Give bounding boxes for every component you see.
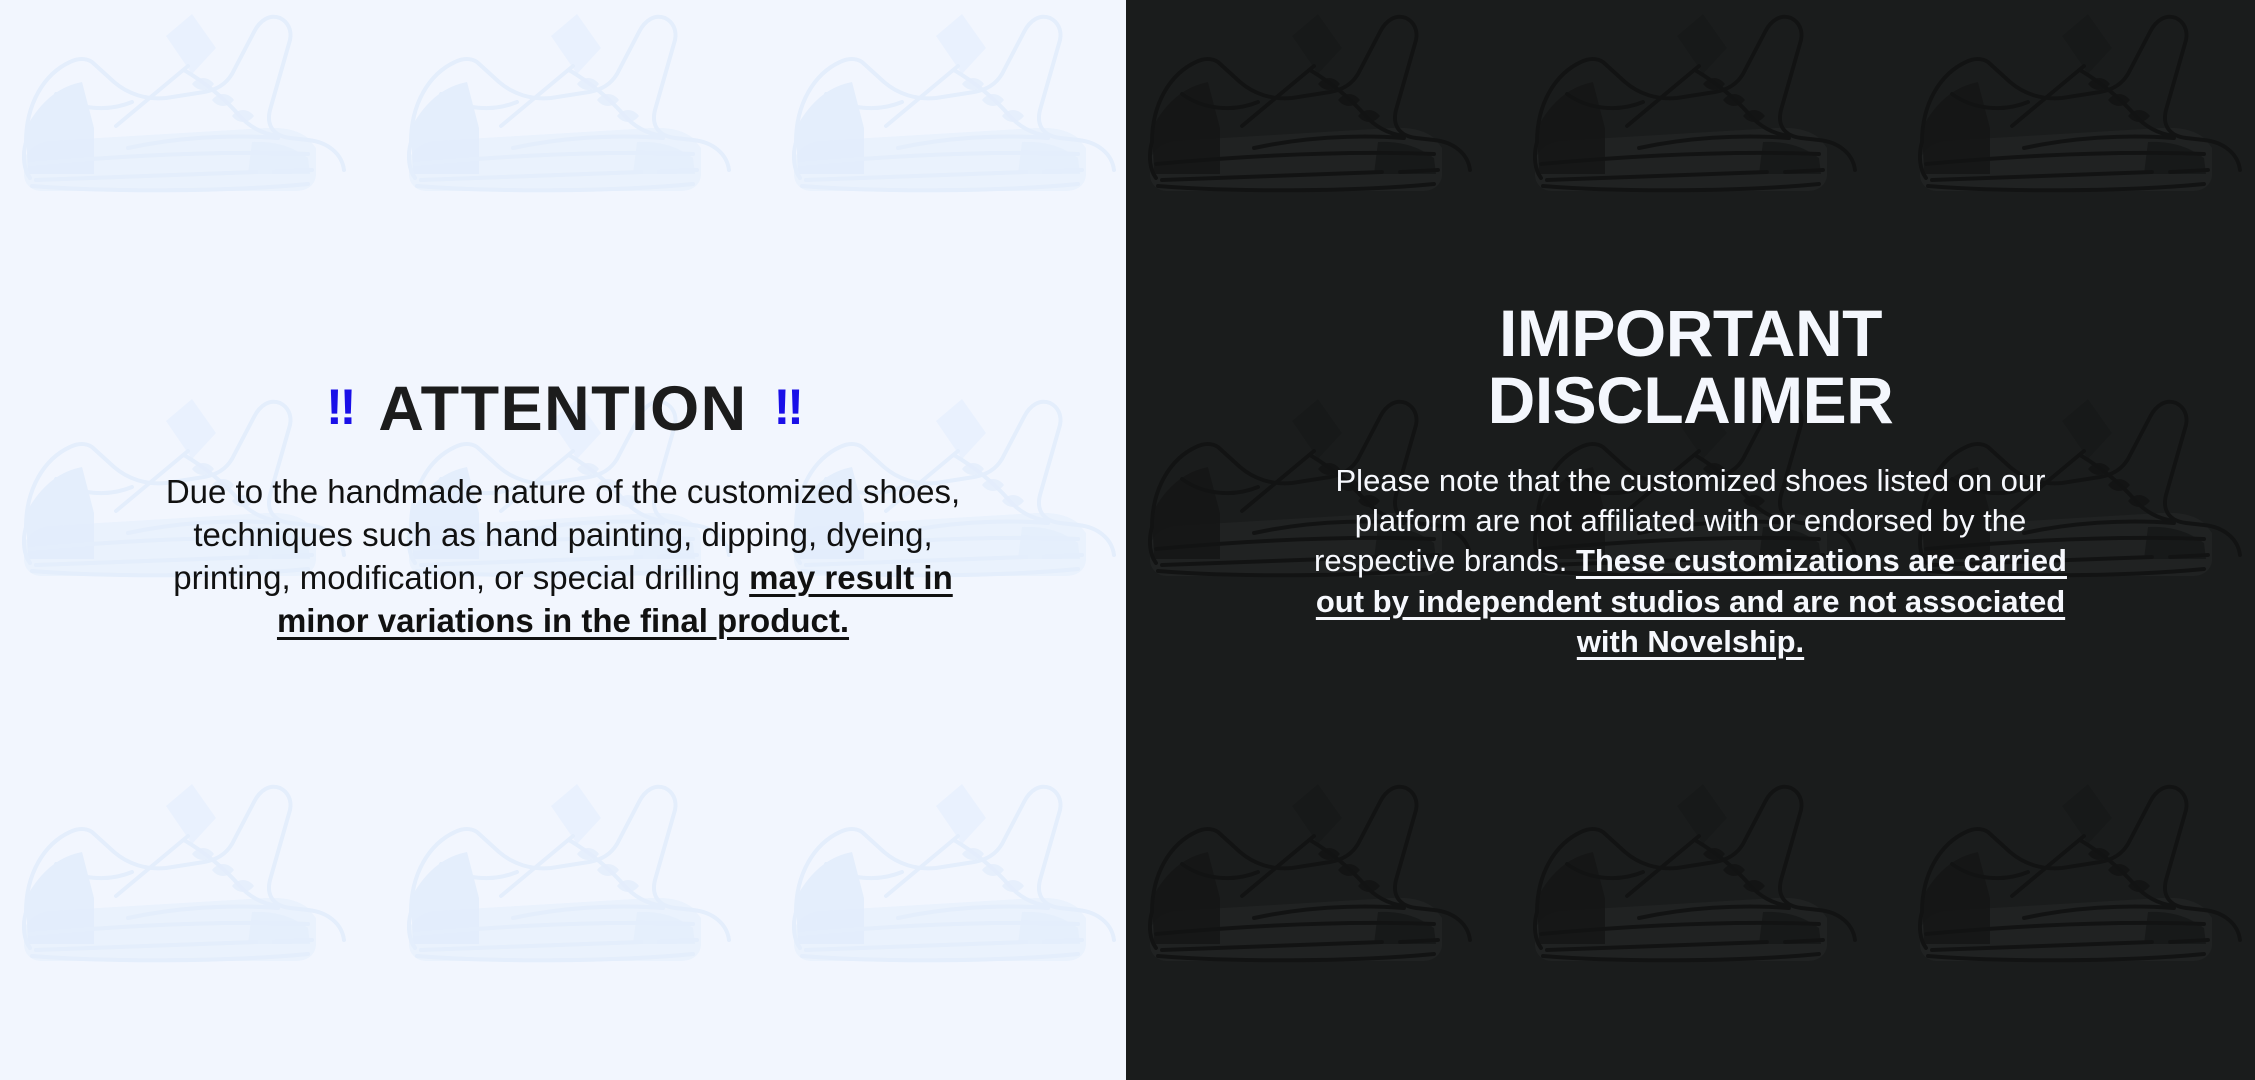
double-exclamation-icon-left: ‼	[326, 382, 352, 432]
disclaimer-body: Please note that the customized shoes li…	[1291, 461, 2091, 662]
promo-banner: ‼ ATTENTION ‼ Due to the handmade nature…	[0, 0, 2255, 1080]
disclaimer-panel: IMPORTANTDISCLAIMER Please note that the…	[1126, 0, 2255, 1080]
attention-heading: ‼ ATTENTION ‼	[326, 378, 800, 441]
disclaimer-heading-line1: IMPORTANT	[1499, 296, 1882, 370]
double-exclamation-icon-right: ‼	[774, 382, 800, 432]
attention-body: Due to the handmade nature of the custom…	[163, 471, 963, 643]
attention-panel: ‼ ATTENTION ‼ Due to the handmade nature…	[0, 0, 1126, 1080]
disclaimer-heading-line2: DISCLAIMER	[1488, 363, 1894, 437]
attention-content: ‼ ATTENTION ‼ Due to the handmade nature…	[0, 0, 1126, 643]
attention-title-text: ATTENTION	[378, 378, 747, 441]
disclaimer-heading: IMPORTANTDISCLAIMER	[1488, 300, 1894, 435]
disclaimer-content: IMPORTANTDISCLAIMER Please note that the…	[1126, 0, 2255, 662]
